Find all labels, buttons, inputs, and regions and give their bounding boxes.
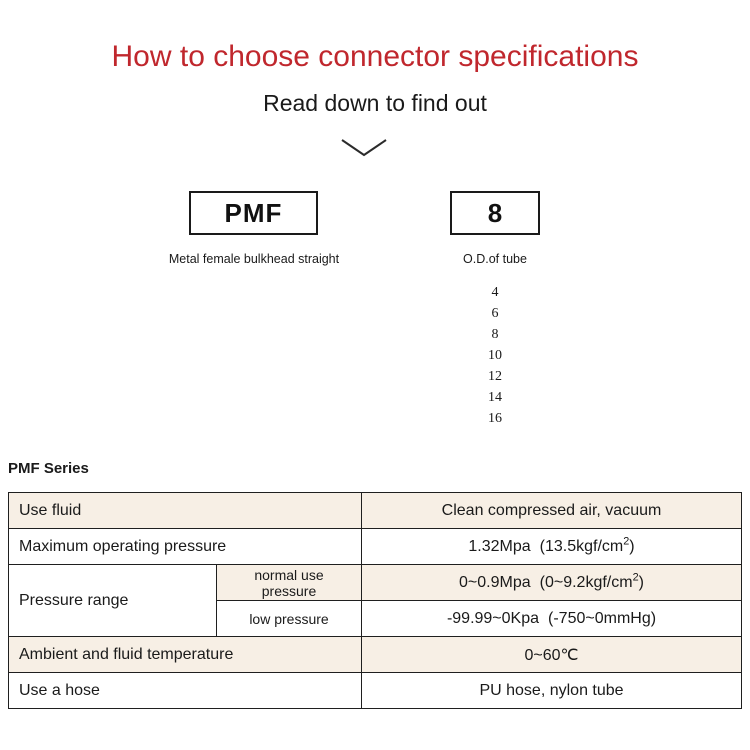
series-code-label: PMF [225,198,283,229]
value-tail: ) [629,538,634,555]
list-item[interactable]: 4 [405,282,585,303]
table-row: Ambient and fluid temperature 0~60℃ [9,637,742,673]
cell-label: Use a hose [9,673,362,709]
cell-label: Ambient and fluid temperature [9,637,362,673]
list-item[interactable]: 14 [405,387,585,408]
list-item[interactable]: 12 [405,366,585,387]
cell-label: Maximum operating pressure [9,529,362,565]
list-item[interactable]: 10 [405,345,585,366]
cell-label: Use fluid [9,493,362,529]
size-code-label: 8 [488,198,502,229]
chevron-down-icon [339,136,389,160]
size-option-list: 4 6 8 10 12 14 16 [405,282,585,429]
table-row: Use a hose PU hose, nylon tube [9,673,742,709]
list-item[interactable]: 8 [405,324,585,345]
table-row: Use fluid Clean compressed air, vacuum [9,493,742,529]
value-paren: (-750~0mmHg) [548,610,656,627]
page-title: How to choose connector specifications [0,40,750,74]
series-caption: Metal female bulkhead straight [129,252,379,266]
size-code-box[interactable]: 8 [450,191,540,235]
value-tail: ) [639,574,644,591]
cell-value: 0~60℃ [362,637,742,673]
cell-sublabel: normal use pressure [217,565,362,601]
table-row: Maximum operating pressure 1.32Mpa(13.5k… [9,529,742,565]
cell-value: -99.99~0Kpa(-750~0mmHg) [362,601,742,637]
value-main: -99.99~0Kpa [447,610,539,627]
value-main: 1.32Mpa [468,538,530,555]
cell-label-pressure-range: Pressure range [9,565,217,637]
series-code-box[interactable]: PMF [189,191,318,235]
spec-table: Use fluid Clean compressed air, vacuum M… [8,492,742,709]
cell-value: Clean compressed air, vacuum [362,493,742,529]
value-main: 0~0.9Mpa [459,574,531,591]
page-subtitle: Read down to find out [0,90,750,117]
cell-value: 0~0.9Mpa(0~9.2kgf/cm2) [362,565,742,601]
table-row: Pressure range normal use pressure 0~0.9… [9,565,742,601]
cell-value: PU hose, nylon tube [362,673,742,709]
list-item[interactable]: 16 [405,408,585,429]
cell-value: 1.32Mpa(13.5kgf/cm2) [362,529,742,565]
cell-sublabel: low pressure [217,601,362,637]
value-paren: (13.5kgf/cm [540,538,624,555]
list-item[interactable]: 6 [405,303,585,324]
spec-table-heading: PMF Series [8,460,89,477]
size-caption: O.D.of tube [405,252,585,266]
value-paren: (0~9.2kgf/cm [540,574,633,591]
